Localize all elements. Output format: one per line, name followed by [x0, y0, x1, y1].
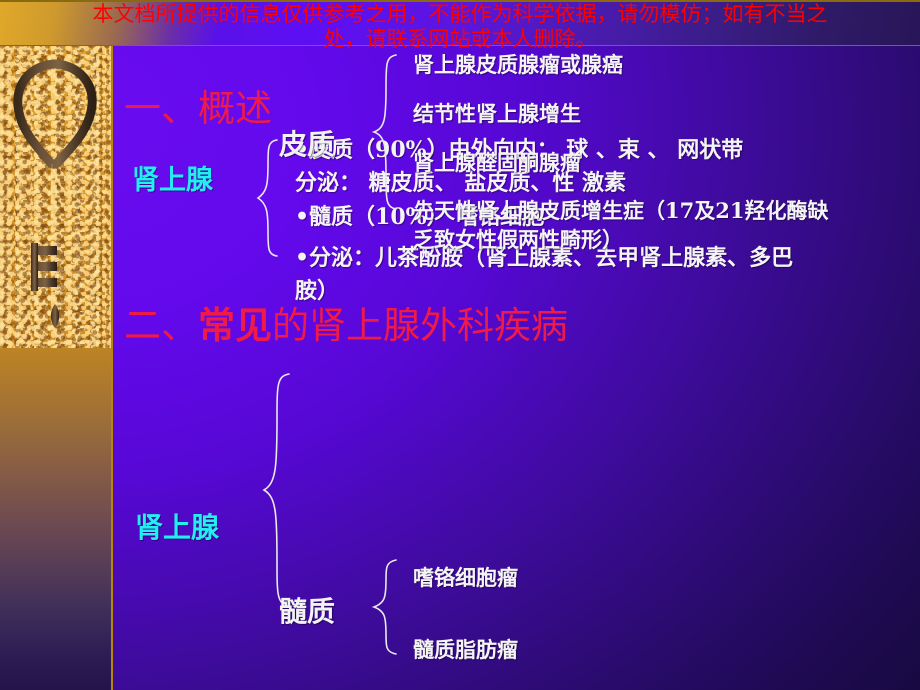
disclaimer-text: 本文档所提供的信息仅供参考之用，不能作为科学依据，请勿模仿；如有不当之 处，请联… — [0, 2, 920, 52]
branch-1-item-4: 先天性肾上腺皮质增生症（17及21羟化酶缺 乏致女性假两性畸形） — [413, 196, 920, 254]
decorative-sidebar — [0, 0, 113, 690]
disclaimer-banner: 本文档所提供的信息仅供参考之用，不能作为科学依据，请勿模仿；如有不当之 处，请联… — [0, 0, 920, 46]
section-2-heading-prefix: 二、 — [124, 304, 198, 347]
section-2-outer-brace-icon — [261, 371, 295, 609]
section-2-heading: 二、常见的肾上腺外科疾病 — [124, 305, 568, 346]
branch-2-label: 髓质 — [279, 597, 335, 626]
section-1-heading-rest: 概述 — [198, 87, 272, 130]
branch-2-item-1: 嗜铬细胞瘤 — [413, 563, 518, 592]
branch-1-item-3: 肾上腺醛固酮腺瘤 — [413, 148, 581, 177]
section-1-group-label: 肾上腺 — [132, 166, 213, 196]
branch-2-brace-icon — [371, 557, 401, 657]
presentation-slide: 本文档所提供的信息仅供参考之用，不能作为科学依据，请勿模仿；如有不当之 处，请联… — [0, 0, 920, 690]
slide-content: 一、概述 肾上腺 •皮质（90%）由外向内： 球 、束 、 网状带 分泌： 糖皮… — [113, 46, 920, 690]
key-on-sand-photo — [0, 40, 111, 348]
branch-1-label: 皮质 — [279, 130, 335, 159]
section-1-heading: 一、概述 — [124, 88, 272, 129]
branch-2-item-2: 髓质脂肪瘤 — [413, 635, 518, 664]
branch-1-item-1: 肾上腺皮质腺瘤或腺癌 — [413, 50, 623, 79]
section-2-heading-rest: 的肾上腺外科疾病 — [272, 304, 568, 347]
section-2-group-label: 肾上腺 — [135, 513, 219, 543]
section-1-heading-prefix: 一、 — [124, 87, 198, 130]
branch-1-brace-icon — [371, 52, 401, 212]
antique-key-icon — [0, 40, 111, 348]
section-2-heading-bold: 常见 — [198, 303, 272, 347]
branch-1-item-2: 结节性肾上腺增生 — [413, 99, 581, 128]
